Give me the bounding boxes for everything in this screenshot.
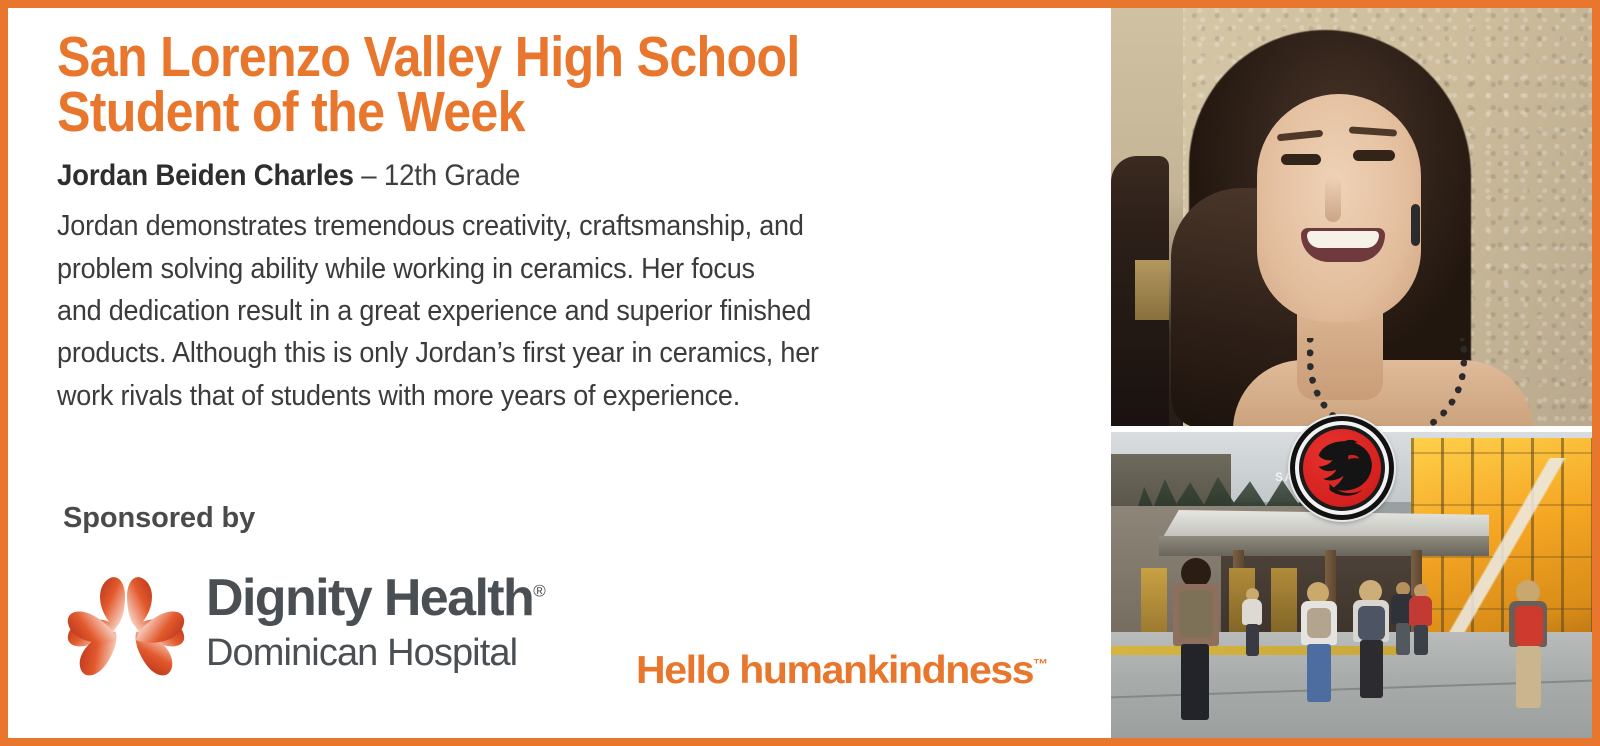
student-name: Jordan Beiden Charles xyxy=(57,159,354,192)
sponsored-by-label: Sponsored by xyxy=(63,502,255,535)
portrait-eye-right xyxy=(1353,150,1395,161)
portrait-door-hardware xyxy=(1135,260,1169,320)
dignity-health-logo: Dignity Health® Dominican Hospital xyxy=(60,564,546,694)
dignity-health-wordmark: Dignity Health® Dominican Hospital xyxy=(206,564,546,672)
student-of-the-week-ad: San Lorenzo Valley High School Student o… xyxy=(0,0,1600,746)
badge-red-field xyxy=(1303,429,1381,507)
school-door xyxy=(1271,568,1297,640)
dignity-health-facility: Dominican Hospital xyxy=(206,634,546,672)
student-description: Jordan demonstrates tremendous creativit… xyxy=(57,205,993,417)
grade-separator: – xyxy=(354,159,384,192)
dignity-health-name: Dignity Health® xyxy=(206,572,546,624)
panel-photo-gutter xyxy=(1095,8,1103,738)
school-logo-badge xyxy=(1290,416,1394,520)
student-grade: 12th Grade xyxy=(384,159,520,192)
portrait-teeth xyxy=(1307,231,1379,248)
portrait-eye-left xyxy=(1281,154,1321,165)
dignity-health-petal-mark xyxy=(60,570,192,694)
tagline-text: Hello humankindness xyxy=(636,648,1033,692)
school-canopy-fascia xyxy=(1159,536,1489,556)
page-title: San Lorenzo Valley High School Student o… xyxy=(57,30,942,139)
hello-humankindness-tagline: Hello humankindness™ xyxy=(636,648,1048,693)
text-panel: San Lorenzo Valley High School Student o… xyxy=(8,8,1103,738)
portrait-earring xyxy=(1411,204,1420,246)
portrait-necklace xyxy=(1307,338,1467,426)
registered-trademark-icon: ® xyxy=(533,582,546,601)
cougar-head-icon xyxy=(1303,429,1381,507)
dignity-health-name-text: Dignity Health xyxy=(206,569,533,627)
school-door xyxy=(1141,568,1167,640)
student-portrait-photo xyxy=(1111,8,1592,426)
portrait-nose xyxy=(1325,176,1341,222)
photo-column: SAN LORE xyxy=(1103,8,1592,738)
student-identity-line: Jordan Beiden Charles – 12th Grade xyxy=(57,161,983,191)
trademark-icon: ™ xyxy=(1033,657,1048,673)
